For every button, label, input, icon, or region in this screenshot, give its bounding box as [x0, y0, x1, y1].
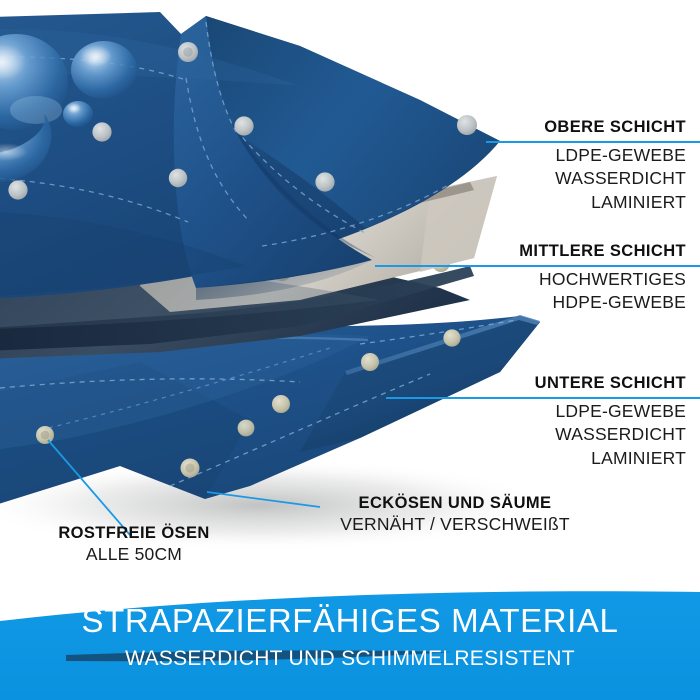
product-illustration — [0, 0, 700, 700]
callout-line-lower-3: LAMINIERT — [535, 447, 686, 470]
callout-heading-middle: MITTLERE SCHICHT — [519, 242, 686, 261]
label-body-corner-seams: VERNÄHT / VERSCHWEIßT — [310, 514, 600, 536]
callout-mittlere-schicht: MITTLERE SCHICHT HOCHWERTIGES HDPE-GEWEB… — [519, 242, 686, 315]
callout-line-upper-2: WASSERDICHT — [544, 167, 686, 190]
label-heading-eyelets: ROSTFREIE ÖSEN — [18, 524, 250, 544]
callout-obere-schicht: OBERE SCHICHT LDPE-GEWEBE WASSERDICHT LA… — [544, 118, 686, 214]
callout-line-upper-1: LDPE-GEWEBE — [544, 144, 686, 167]
bottom-banner — [0, 591, 700, 700]
callout-line-middle-2: HDPE-GEWEBE — [519, 291, 686, 314]
callout-heading-lower: UNTERE SCHICHT — [535, 374, 686, 393]
callout-line-lower-1: LDPE-GEWEBE — [535, 400, 686, 423]
tarpaulin-material-infographic: OBERE SCHICHT LDPE-GEWEBE WASSERDICHT LA… — [0, 0, 700, 700]
callout-untere-schicht: UNTERE SCHICHT LDPE-GEWEBE WASSERDICHT L… — [535, 374, 686, 470]
label-heading-corner-seams: ECKÖSEN UND SÄUME — [310, 494, 600, 514]
label-body-eyelets: ALLE 50CM — [18, 544, 250, 566]
label-rostfreie-oesen: ROSTFREIE ÖSEN ALLE 50CM — [18, 524, 250, 566]
label-eckoesen-und-saeume: ECKÖSEN UND SÄUME VERNÄHT / VERSCHWEIßT — [310, 494, 600, 536]
callout-line-lower-2: WASSERDICHT — [535, 423, 686, 446]
callout-heading-upper: OBERE SCHICHT — [544, 118, 686, 137]
callout-line-middle-1: HOCHWERTIGES — [519, 268, 686, 291]
callout-line-upper-3: LAMINIERT — [544, 191, 686, 214]
